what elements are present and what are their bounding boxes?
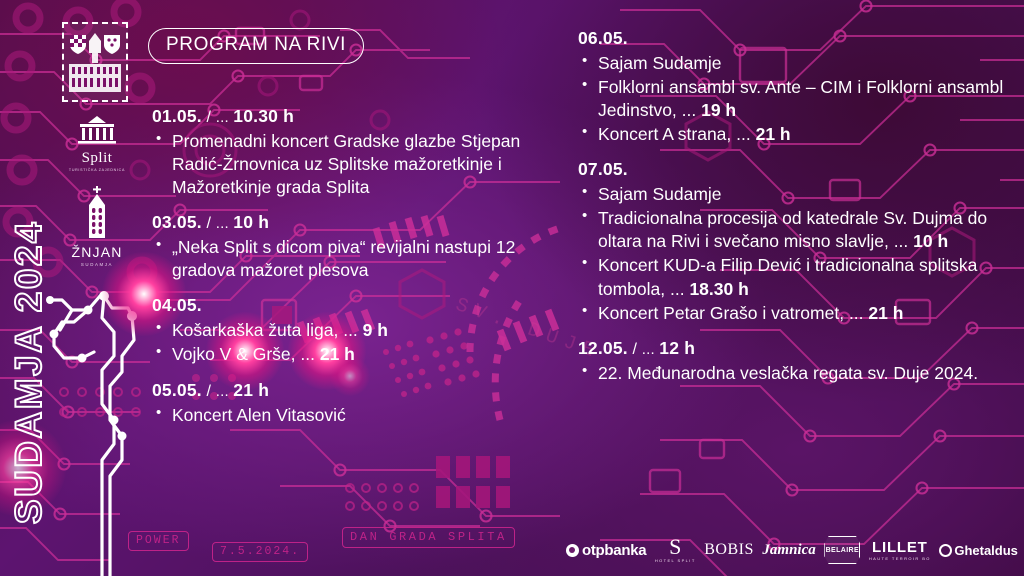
program-day-block: 12.05. / ... 12 h22. Međunarodna veslačk… (578, 338, 1008, 385)
program-item: Koncert A strana, ... 21 h (578, 123, 1008, 146)
tag-day-of-split: DAN GRADA SPLITA (342, 527, 515, 548)
sponsor-lillet: LILLET HAUTE TERROIR BO (869, 540, 931, 561)
program-item-list: 22. Međunarodna veslačka regata sv. Duje… (578, 362, 1008, 385)
vertical-title-text: SUDAMJA 2024 (8, 220, 50, 524)
program-day-block: 07.05.Sajam SudamjeTradicionalna procesi… (578, 159, 1008, 324)
program-item-text: Vojko V & Grše, (172, 344, 296, 364)
program-item-time: 18.30 h (689, 279, 748, 299)
program-item: Sajam Sudamje (578, 52, 1008, 75)
program-day-block: 06.05.Sajam SudamjeFolklorni ansambl sv.… (578, 28, 1008, 146)
program-item: Košarkaška žuta liga, ... 9 h (152, 319, 564, 342)
sponsor-hotel-split-label: HOTEL SPLIT (655, 559, 696, 563)
program-header-pill: PROGRAM NA RIVI (148, 28, 364, 64)
sponsor-belaire-label: BELAIRE (826, 547, 860, 554)
program-item-text: Folklorni ansambl sv. Ante – CIM i Folkl… (598, 77, 1003, 120)
sponsor-jamnica-label: Jamnica (762, 543, 815, 558)
program-item-list: Košarkaška žuta liga, ... 9 hVojko V & G… (152, 319, 564, 366)
split-tourist-board-logo: Split TURISTIČKA ZAJEDNICA (62, 115, 132, 172)
program-day-time: 10.30 h (233, 106, 294, 126)
program-day-date-text: 04.05. (152, 295, 202, 315)
program-day-date: 12.05. / ... 12 h (578, 338, 1008, 360)
sponsor-logo-strip: otpbanka S HOTEL SPLIT BOBIS Jamnica BEL… (566, 531, 1018, 569)
tag-power: POWER (128, 531, 189, 551)
sponsor-jamnica: Jamnica (762, 543, 815, 558)
program-day-block: 03.05. / ... 10 h„Neka Split s dicom piv… (152, 212, 564, 282)
program-item: Vojko V & Grše, ... 21 h (152, 343, 564, 366)
program-day-dots: ... (642, 341, 659, 358)
znjan-logo-subtitle: SUDAMJA (62, 262, 132, 267)
program-day-dots: ... (216, 383, 233, 400)
program-item-text: 22. Međunarodna veslačka regata sv. Duje… (598, 363, 978, 383)
program-day-date-text: 06.05. (578, 28, 628, 48)
program-item-text: „Neka Split s dicom piva“ revijalni nast… (172, 237, 515, 280)
sponsor-hotel-split: S HOTEL SPLIT (655, 537, 696, 563)
sponsor-lillet-label: LILLET (872, 540, 928, 555)
program-day-date: 06.05. (578, 28, 1008, 50)
vertical-poster-title: SUDAMJA 2024 (0, 182, 61, 562)
program-day-date: 05.05. / ... 21 h (152, 380, 564, 402)
program-item: Sajam Sudamje (578, 183, 1008, 206)
program-item-text: Sajam Sudamje (598, 53, 722, 73)
tag-day-label: DAN GRADA SPLITA (350, 530, 507, 544)
program-day-block: 04.05.Košarkaška žuta liga, ... 9 hVojko… (152, 295, 564, 366)
logo-column: Split TURISTIČKA ZAJEDNICA ŽNJAN SUDAMJA (62, 22, 140, 267)
program-item-dots: ... (296, 344, 320, 364)
program-item-list: Sajam SudamjeFolklorni ansambl sv. Ante … (578, 52, 1008, 146)
sponsor-otpbanka-label: otpbanka (582, 543, 646, 558)
znjan-logo-name: ŽNJAN (62, 245, 132, 259)
program-day-separator: / (202, 215, 216, 232)
program-item-text: Promenadni koncert Gradske glazbe Stjepa… (172, 131, 520, 197)
program-item: Koncert KUD-a Filip Dević i tradicionaln… (578, 254, 1008, 300)
program-day-date-text: 12.05. (578, 338, 628, 358)
program-day-separator: / (202, 383, 216, 400)
program-day-date-text: 03.05. (152, 212, 202, 232)
program-item-list: Promenadni koncert Gradske glazbe Stjepa… (152, 130, 564, 199)
program-item-time: 19 h (701, 100, 736, 120)
program-item: Tradicionalna procesija od katedrale Sv.… (578, 207, 1008, 253)
split-logo-subtitle: TURISTIČKA ZAJEDNICA (62, 168, 132, 172)
program-item-dots: ... (338, 320, 362, 340)
belaire-badge-icon: BELAIRE (824, 536, 860, 564)
program-day-date: 03.05. / ... 10 h (152, 212, 564, 234)
program-day-separator: / (628, 341, 642, 358)
program-day-separator: / (202, 109, 216, 126)
program-item-dots: ... (665, 279, 689, 299)
program-item-time: 21 h (320, 344, 355, 364)
program-item-text: Koncert A strana, (598, 124, 731, 144)
program-day-block: 01.05. / ... 10.30 hPromenadni koncert G… (152, 106, 564, 199)
sponsor-otpbanka: otpbanka (566, 543, 646, 558)
sponsor-ghetaldus: Ghetaldus (939, 544, 1018, 557)
program-day-dots: ... (216, 109, 233, 126)
program-item-time: 9 h (363, 320, 388, 340)
program-day-block: 05.05. / ... 21 hKoncert Alen Vitasović (152, 380, 564, 427)
program-day-time: 12 h (659, 338, 695, 358)
program-item-dots: ... (889, 231, 913, 251)
program-item-text: Košarkaška žuta liga, (172, 320, 338, 340)
sponsor-ghetaldus-label: Ghetaldus (954, 544, 1018, 557)
sponsor-hotel-split-mark: S (669, 537, 681, 557)
ghetaldus-lens-icon (939, 544, 952, 557)
program-day-date-text: 05.05. (152, 380, 202, 400)
peristyle-icon (70, 115, 124, 145)
program-item-dots: ... (677, 100, 701, 120)
sponsor-lillet-subtitle: HAUTE TERROIR BO (869, 557, 931, 561)
program-item-time: 21 h (868, 303, 903, 323)
znjan-sudamja-logo: ŽNJAN SUDAMJA (62, 186, 132, 267)
program-item: Koncert Petar Grašo i vatromet, ... 21 h (578, 302, 1008, 325)
program-day-time: 10 h (233, 212, 269, 232)
split-coat-of-arms-stamp-icon (62, 22, 128, 102)
otpbanka-mark-icon (566, 544, 579, 557)
program-item: Folklorni ansambl sv. Ante – CIM i Folkl… (578, 76, 1008, 122)
split-logo-name: Split (62, 151, 132, 166)
program-day-date: 04.05. (152, 295, 564, 317)
bell-tower-icon (82, 186, 112, 240)
program-item-text: Koncert Petar Grašo i vatromet, (598, 303, 844, 323)
program-item-dots: ... (844, 303, 868, 323)
program-item-time: 10 h (913, 231, 948, 251)
sponsor-belaire: BELAIRE (824, 536, 860, 564)
program-item: „Neka Split s dicom piva“ revijalni nast… (152, 236, 564, 282)
program-item: 22. Međunarodna veslačka regata sv. Duje… (578, 362, 1008, 385)
program-day-date-text: 07.05. (578, 159, 628, 179)
program-day-time: 21 h (233, 380, 269, 400)
program-item-text: Sajam Sudamje (598, 184, 722, 204)
program-item-list: „Neka Split s dicom piva“ revijalni nast… (152, 236, 564, 282)
program-item-list: Koncert Alen Vitasović (152, 404, 564, 427)
program-item-list: Sajam SudamjeTradicionalna procesija od … (578, 183, 1008, 325)
program-day-dots: ... (216, 215, 233, 232)
program-item: Koncert Alen Vitasović (152, 404, 564, 427)
program-day-date: 01.05. / ... 10.30 h (152, 106, 564, 128)
sponsor-bobis-label: BOBIS (704, 542, 754, 558)
program-item-text: Koncert KUD-a Filip Dević i tradicionaln… (598, 255, 977, 298)
tag-date: 7.5.2024. (212, 542, 308, 562)
program-column-right: 06.05.Sajam SudamjeFolklorni ansambl sv.… (578, 28, 1008, 398)
tag-power-label: POWER (136, 534, 181, 547)
program-item-dots: ... (731, 124, 755, 144)
program-header-label: PROGRAM NA RIVI (166, 34, 346, 55)
program-day-date: 07.05. (578, 159, 1008, 181)
sponsor-bobis: BOBIS (704, 542, 754, 558)
poster-canvas: SUDAMJA 2024 (0, 0, 1024, 576)
tag-date-label: 7.5.2024. (220, 545, 300, 558)
program-day-date-text: 01.05. (152, 106, 202, 126)
program-item-time: 21 h (756, 124, 791, 144)
program-column-left: 01.05. / ... 10.30 hPromenadni koncert G… (152, 106, 564, 440)
program-item: Promenadni koncert Gradske glazbe Stjepa… (152, 130, 564, 199)
program-item-text: Koncert Alen Vitasović (172, 405, 346, 425)
